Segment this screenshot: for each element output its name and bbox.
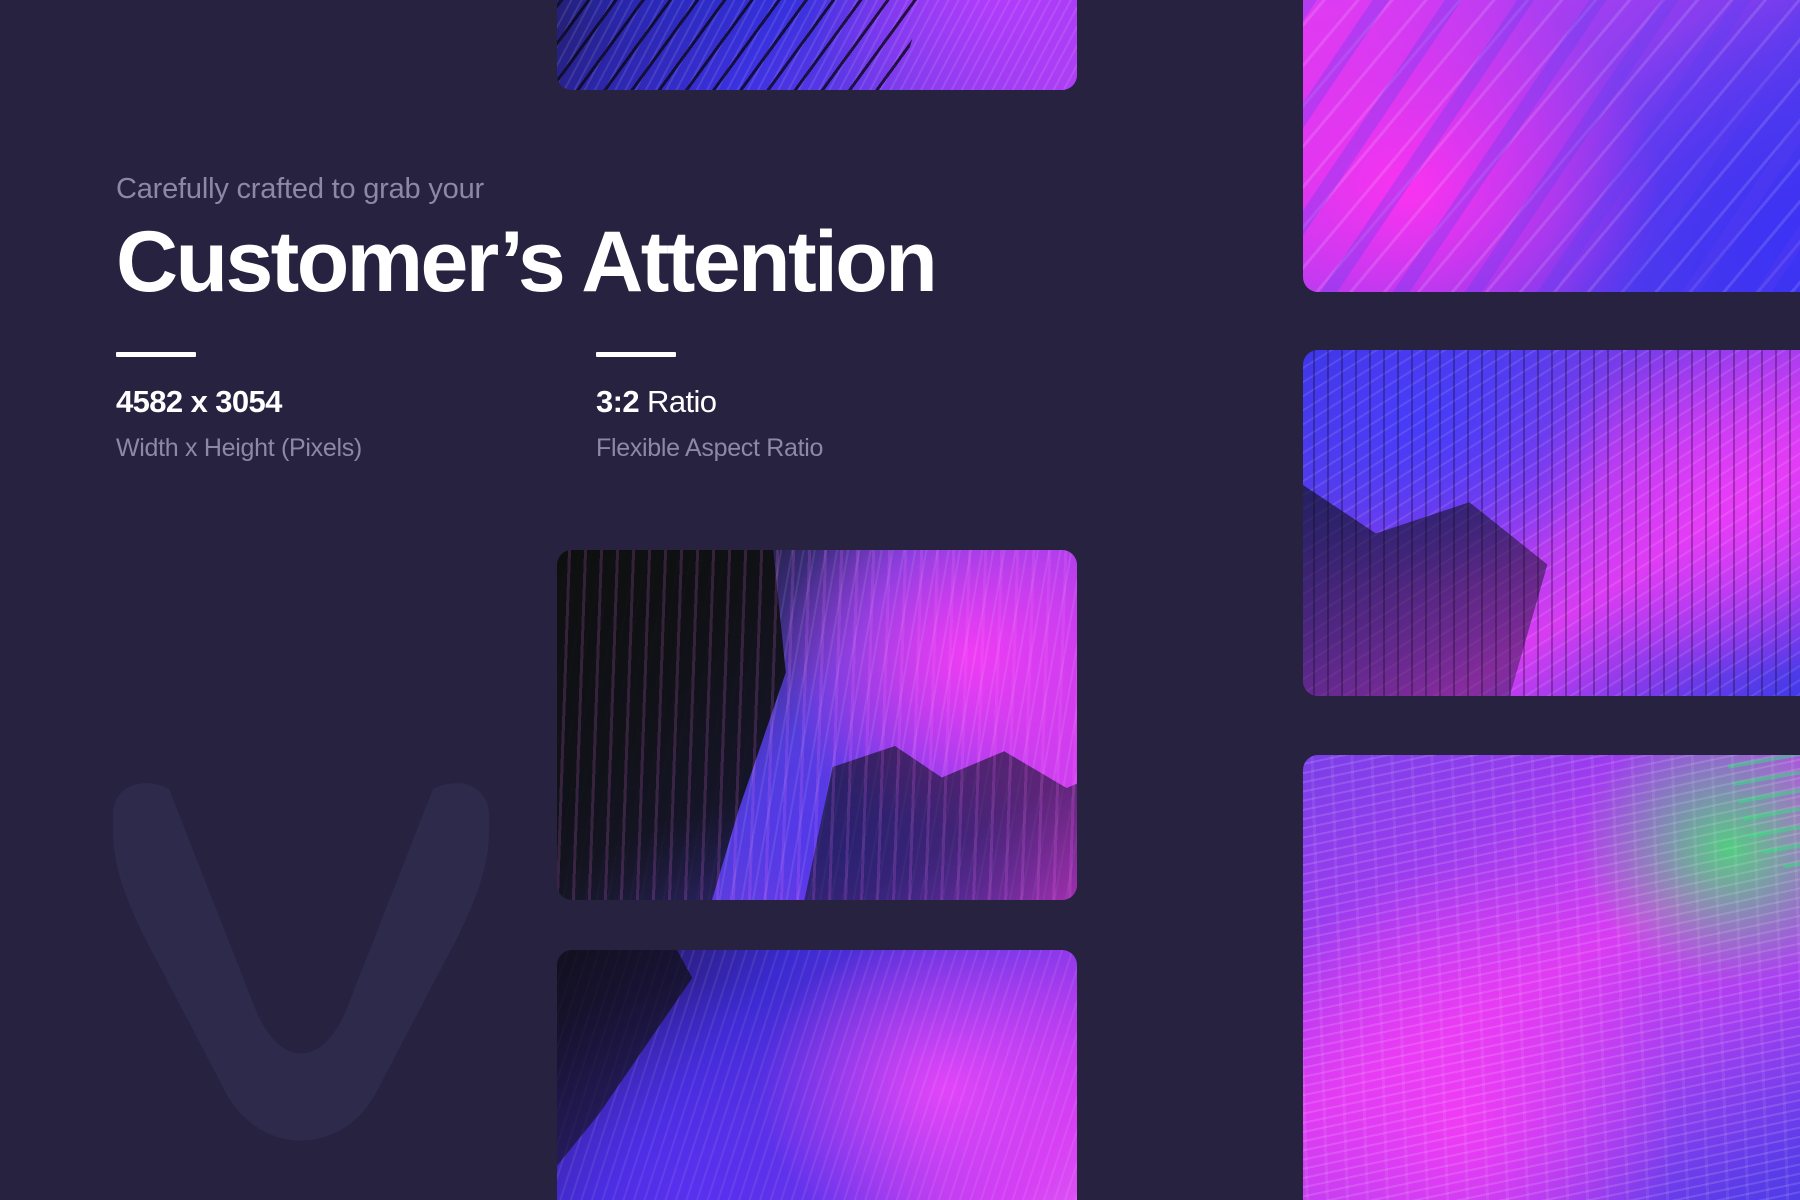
gallery-card-right-1[interactable] xyxy=(1303,0,1800,292)
page-title: Customer’s Attention xyxy=(116,217,1096,308)
stat-value: 3:2 Ratio xyxy=(596,385,1076,419)
v-mark-icon xyxy=(113,783,489,1140)
stat-value: 4582 x 3054 xyxy=(116,385,596,419)
stat-caption: Width x Height (Pixels) xyxy=(116,433,596,463)
artwork-thumbnail xyxy=(557,0,1077,90)
artwork-thumbnail xyxy=(1303,350,1800,696)
stat-dimensions: 4582 x 3054 Width x Height (Pixels) xyxy=(116,352,596,463)
gallery-card-top-center[interactable] xyxy=(557,0,1077,90)
stat-value-strong: 4582 x 3054 xyxy=(116,384,282,419)
artwork-thumbnail xyxy=(1303,0,1800,292)
gallery-card-bottom-center[interactable] xyxy=(557,950,1077,1200)
artwork-thumbnail xyxy=(1303,755,1800,1200)
stat-rule xyxy=(116,352,196,357)
gallery-card-center[interactable] xyxy=(557,550,1077,900)
artwork-thumbnail xyxy=(557,550,1077,900)
artwork-thumbnail xyxy=(557,950,1077,1200)
hero-eyebrow: Carefully crafted to grab your xyxy=(116,172,1096,207)
stat-value-strong: 3:2 xyxy=(596,384,639,419)
stats-row: 4582 x 3054 Width x Height (Pixels) 3:2 … xyxy=(116,352,1076,463)
stat-rule xyxy=(596,352,676,357)
hero-text-block: Carefully crafted to grab your Customer’… xyxy=(116,172,1096,308)
gallery-card-right-3[interactable] xyxy=(1303,755,1800,1200)
stat-caption: Flexible Aspect Ratio xyxy=(596,433,1076,463)
stat-aspect-ratio: 3:2 Ratio Flexible Aspect Ratio xyxy=(596,352,1076,463)
gallery-card-right-2[interactable] xyxy=(1303,350,1800,696)
stat-value-rest: Ratio xyxy=(639,384,716,419)
brand-watermark xyxy=(85,775,515,1200)
